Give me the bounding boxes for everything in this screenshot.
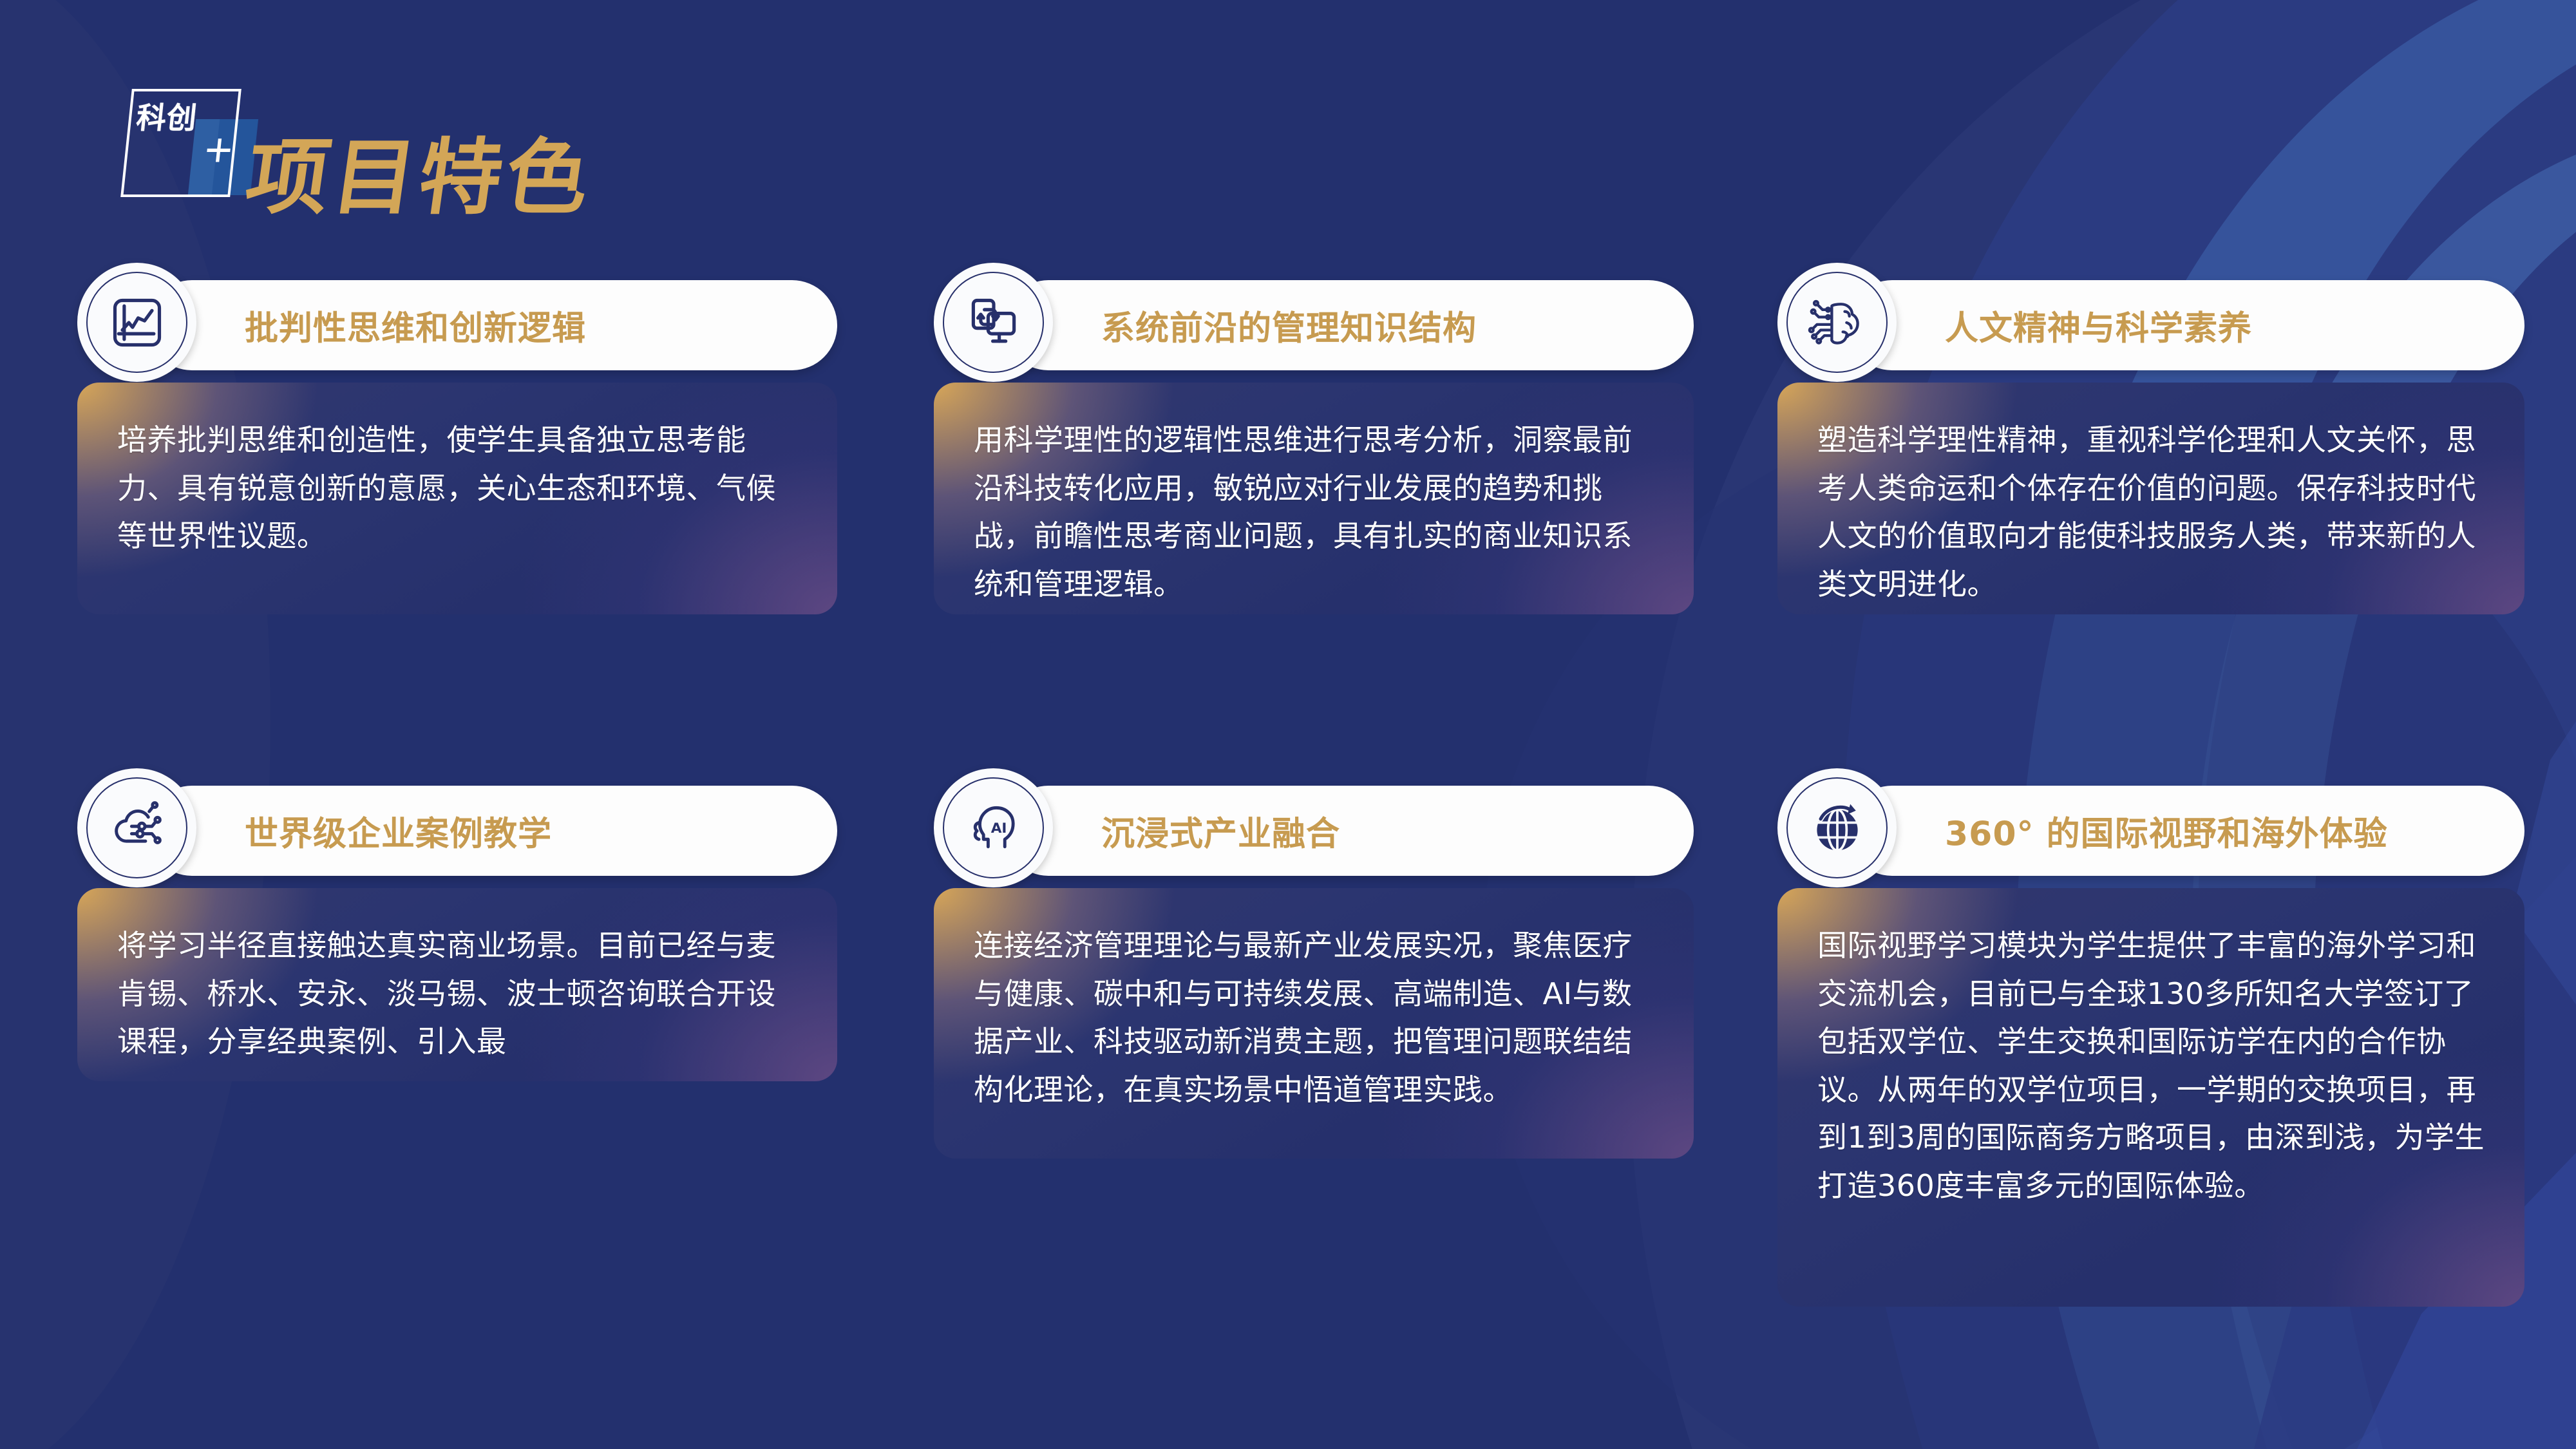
cloud-network-icon bbox=[106, 797, 169, 860]
card-title: 沉浸式产业融合 bbox=[1101, 807, 1340, 855]
kechuang-plus-logo: 科创 + bbox=[122, 89, 254, 202]
card-body-text: 连接经济管理理论与最新产业发展实况，聚焦医疗与健康、碳中和与可持续发展、高端制造… bbox=[974, 922, 1655, 1113]
card-body: 用科学理性的逻辑性思维进行思考分析，洞察最前沿科技转化应用，敏锐应对行业发展的趋… bbox=[934, 383, 1694, 614]
card-header: 系统前沿的管理知识结构 bbox=[934, 277, 1694, 374]
card-header: 世界级企业案例教学 bbox=[77, 782, 837, 879]
card-header: 批判性思维和创新逻辑 bbox=[77, 277, 837, 374]
feature-card[interactable]: 批判性思维和创新逻辑 培养批判思维和创造性，使学生具备独立思考能力、具有锐意创新… bbox=[77, 277, 837, 614]
card-body: 将学习半径直接触达真实商业场景。目前已经与麦肯锡、桥水、安永、淡马锡、波士顿咨询… bbox=[77, 888, 837, 1081]
devices-sync-icon bbox=[962, 291, 1025, 354]
brain-circuit-icon bbox=[1806, 291, 1869, 354]
feature-card[interactable]: 世界级企业案例教学 将学习半径直接触达真实商业场景。目前已经与麦肯锡、桥水、安永… bbox=[77, 782, 837, 1081]
feature-card[interactable]: AI 沉浸式产业融合 连接经济管理理论与最新产业发展实况，聚焦医疗与健康、碳中和… bbox=[934, 782, 1694, 1159]
card-body: 塑造科学理性精神，重视科学伦理和人文关怀，思考人类命运和个体存在价值的问题。保存… bbox=[1777, 383, 2524, 614]
page-title: 项目特色 bbox=[240, 111, 601, 230]
feature-card[interactable]: 360° 的国际视野和海外体验 国际视野学习模块为学生提供了丰富的海外学习和交流… bbox=[1777, 782, 2524, 1307]
card-body: 培养批判思维和创造性，使学生具备独立思考能力、具有锐意创新的意愿，关心生态和环境… bbox=[77, 383, 837, 614]
card-icon-ring bbox=[77, 263, 196, 382]
card-body: 国际视野学习模块为学生提供了丰富的海外学习和交流机会，目前已与全球130多所知名… bbox=[1777, 888, 2524, 1307]
card-body-text: 将学习半径直接触达真实商业场景。目前已经与麦肯锡、桥水、安永、淡马锡、波士顿咨询… bbox=[117, 922, 799, 1066]
globe-icon bbox=[1806, 797, 1869, 860]
card-title: 批判性思维和创新逻辑 bbox=[245, 301, 586, 350]
ai-head-icon: AI bbox=[962, 797, 1025, 860]
card-title: 360° 的国际视野和海外体验 bbox=[1945, 807, 2388, 855]
card-header: 人文精神与科学素养 bbox=[1777, 277, 2524, 374]
card-icon-ring bbox=[1777, 263, 1897, 382]
card-body-text: 塑造科学理性精神，重视科学伦理和人文关怀，思考人类命运和个体存在价值的问题。保存… bbox=[1817, 416, 2486, 608]
card-icon-ring: AI bbox=[934, 768, 1053, 887]
card-header: 360° 的国际视野和海外体验 bbox=[1777, 782, 2524, 879]
logo-plus-icon: + bbox=[202, 126, 235, 174]
card-icon-ring bbox=[934, 263, 1053, 382]
card-body-text: 用科学理性的逻辑性思维进行思考分析，洞察最前沿科技转化应用，敏锐应对行业发展的趋… bbox=[974, 416, 1655, 608]
card-title: 系统前沿的管理知识结构 bbox=[1101, 301, 1477, 350]
card-icon-ring bbox=[77, 768, 196, 887]
feature-card[interactable]: 系统前沿的管理知识结构 用科学理性的逻辑性思维进行思考分析，洞察最前沿科技转化应… bbox=[934, 277, 1694, 614]
card-title: 世界级企业案例教学 bbox=[245, 807, 552, 855]
card-body: 连接经济管理理论与最新产业发展实况，聚焦医疗与健康、碳中和与可持续发展、高端制造… bbox=[934, 888, 1694, 1159]
card-header: AI 沉浸式产业融合 bbox=[934, 782, 1694, 879]
card-title: 人文精神与科学素养 bbox=[1945, 301, 2252, 350]
card-body-text: 培养批判思维和创造性，使学生具备独立思考能力、具有锐意创新的意愿，关心生态和环境… bbox=[117, 416, 799, 560]
line-chart-icon bbox=[106, 291, 169, 354]
feature-card[interactable]: 人文精神与科学素养 塑造科学理性精神，重视科学伦理和人文关怀，思考人类命运和个体… bbox=[1777, 277, 2524, 614]
card-icon-ring bbox=[1777, 768, 1897, 887]
svg-text:AI: AI bbox=[990, 820, 1007, 837]
card-body-text: 国际视野学习模块为学生提供了丰富的海外学习和交流机会，目前已与全球130多所知名… bbox=[1817, 922, 2486, 1209]
logo-text: 科创 bbox=[135, 102, 198, 134]
